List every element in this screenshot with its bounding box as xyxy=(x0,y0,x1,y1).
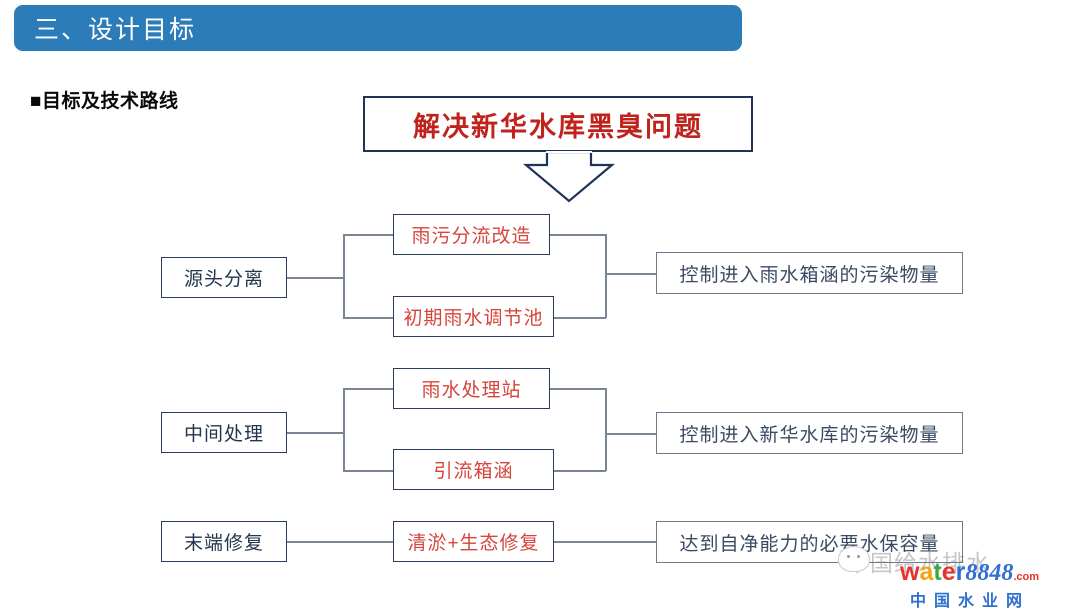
goal-box: 解决新华水库黑臭问题 xyxy=(363,96,753,152)
connector-r2-to-measure-1 xyxy=(343,388,393,390)
outcome-node-3: 达到自净能力的必要水保容量 xyxy=(656,521,963,563)
measure-node-2-1-label: 雨水处理站 xyxy=(421,375,521,402)
source-node-3-label: 末端修复 xyxy=(184,528,264,555)
source-node-1-label: 源头分离 xyxy=(184,264,264,291)
measure-node-2-2-label: 引流箱涵 xyxy=(433,456,513,483)
outcome-node-1: 控制进入雨水箱涵的污染物量 xyxy=(656,252,963,294)
connector-r2-left-bracket xyxy=(343,388,345,471)
connector-r2-to-outcome xyxy=(605,433,656,435)
arrow-down-icon xyxy=(519,151,619,203)
connector-r2-source-stem xyxy=(287,432,344,434)
connector-r2-from-measure-1 xyxy=(550,388,606,390)
connector-r3-measure-to-outcome xyxy=(554,541,656,543)
connector-r2-to-measure-2 xyxy=(343,470,393,472)
outcome-node-3-label: 达到自净能力的必要水保容量 xyxy=(679,529,939,556)
connector-r2-from-measure-2 xyxy=(554,470,606,472)
measure-node-1-1-label: 雨污分流改造 xyxy=(411,221,531,248)
measure-node-3-1-label: 清淤+生态修复 xyxy=(407,528,539,555)
connector-r1-to-measure-1 xyxy=(343,234,393,236)
watermark-logo-cn: 中国水业网 xyxy=(910,587,1030,611)
measure-node-1-2-label: 初期雨水调节池 xyxy=(403,303,543,330)
connector-r3-source-to-measure xyxy=(287,541,393,543)
slide-header-bar: 三、设计目标 xyxy=(14,5,742,51)
connector-r1-to-outcome xyxy=(605,273,656,275)
measure-node-2-2: 引流箱涵 xyxy=(393,449,554,490)
page-title: 三、设计目标 xyxy=(34,10,196,46)
measure-node-1-1: 雨污分流改造 xyxy=(393,214,550,255)
slide-canvas: 三、设计目标 ■目标及技术路线 解决新华水库黑臭问题 源头分离 雨污分流改造 初… xyxy=(0,0,1080,608)
source-node-2: 中间处理 xyxy=(161,412,287,453)
connector-r1-from-measure-2 xyxy=(554,317,606,319)
outcome-node-2: 控制进入新华水库的污染物量 xyxy=(656,412,963,454)
measure-node-1-2: 初期雨水调节池 xyxy=(393,296,554,337)
outcome-node-2-label: 控制进入新华水库的污染物量 xyxy=(679,420,939,447)
goal-box-label: 解决新华水库黑臭问题 xyxy=(413,105,703,144)
connector-r2-right-bracket xyxy=(605,388,607,471)
watermark-logo-tld: .com xyxy=(1013,571,1039,583)
source-node-1: 源头分离 xyxy=(161,257,287,298)
section-subheading: ■目标及技术路线 xyxy=(30,86,178,113)
measure-node-3-1: 清淤+生态修复 xyxy=(393,521,554,562)
connector-r1-left-bracket xyxy=(343,234,345,318)
source-node-2-label: 中间处理 xyxy=(184,419,264,446)
connector-r1-source-stem xyxy=(287,277,344,279)
measure-node-2-1: 雨水处理站 xyxy=(393,368,550,409)
outcome-node-1-label: 控制进入雨水箱涵的污染物量 xyxy=(679,260,939,287)
source-node-3: 末端修复 xyxy=(161,521,287,562)
connector-r1-to-measure-2 xyxy=(343,317,393,319)
connector-r1-right-bracket xyxy=(605,234,607,318)
connector-r1-from-measure-1 xyxy=(550,234,606,236)
watermark-logo: water8848.com xyxy=(900,560,1039,585)
watermark-logo-number: 8848 xyxy=(965,560,1013,586)
